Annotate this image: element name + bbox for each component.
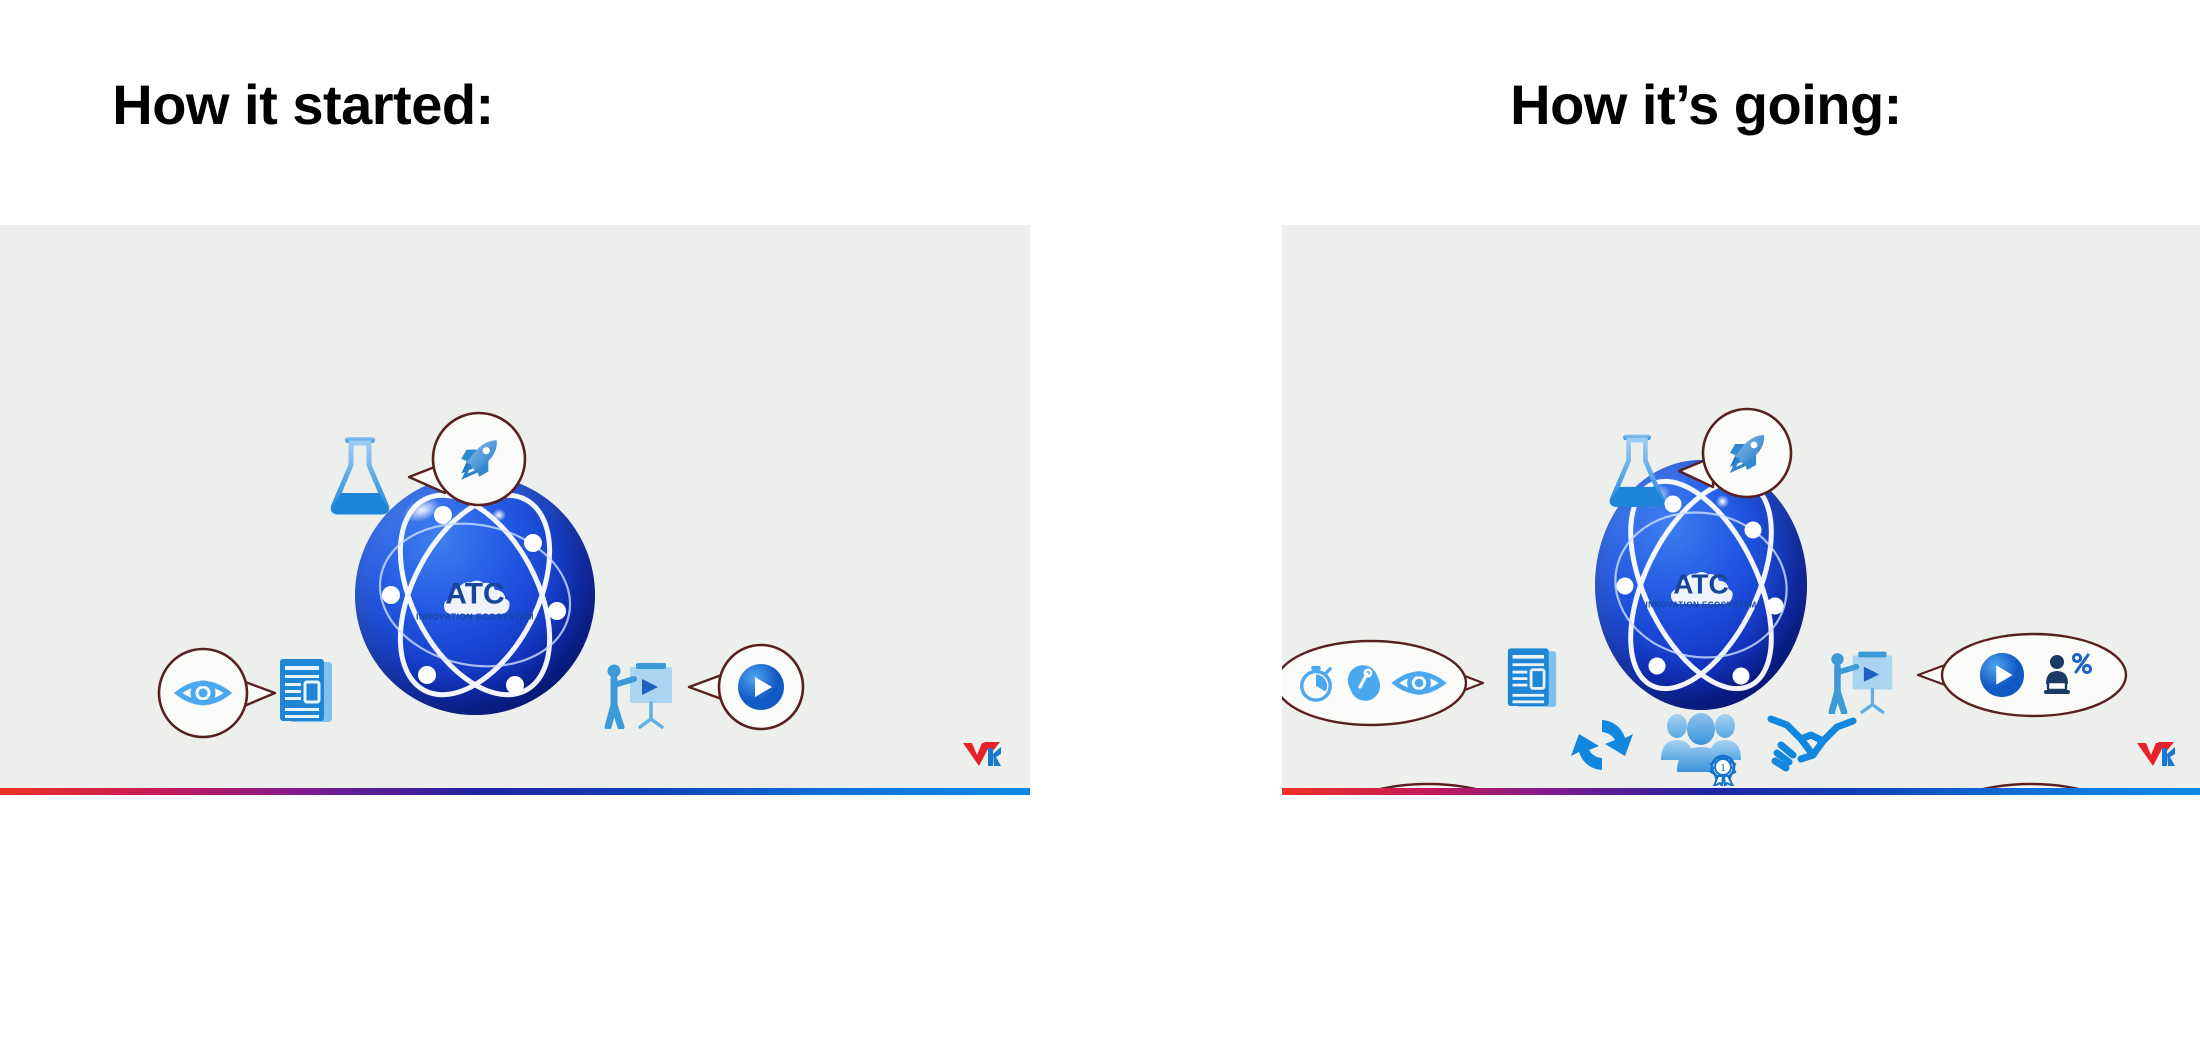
document-article-icon: [278, 658, 334, 728]
bottom-icon-sync: [1565, 708, 1639, 782]
atc-cloud-logo-started: ATC INNOVATION ECOSYSTEM: [405, 579, 544, 621]
vk-logo-icon: [962, 738, 1002, 768]
corner-logo-going: [2136, 738, 2176, 773]
panel-how-its-going: How it’s going:: [1212, 0, 2200, 1050]
corner-logo-started: [962, 738, 1002, 773]
presenter-anchor-started: [604, 657, 676, 729]
flask-anchor-going: [1608, 432, 1666, 508]
callout-left-going: [1282, 634, 1491, 732]
people-group-award-icon: 1: [1659, 704, 1745, 786]
diagram-going: ATC INNOVATION ECOSYSTEM: [1282, 225, 2200, 795]
rocket-icon: [454, 434, 504, 484]
vk-logo-icon: [2136, 738, 2176, 768]
diagram-started: ATC INNOVATION ECOSYSTEM: [0, 225, 1030, 795]
atc-subtitle: INNOVATION ECOSYSTEM: [1640, 602, 1763, 610]
slide-bottom-bar-going: [1282, 788, 2200, 795]
meme-root: How it started:: [0, 0, 2200, 1050]
slide-going: ATC INNOVATION ECOSYSTEM: [1282, 225, 2200, 795]
atc-name: ATC: [405, 579, 544, 609]
person-laptop-percent-icon: [2040, 651, 2090, 699]
flask-icon: [1608, 432, 1666, 508]
panel-title-started: How it started:: [0, 72, 818, 137]
bottom-icon-handshake: [1767, 709, 1857, 777]
flask-icon: [329, 435, 391, 515]
play-button-icon: [1978, 651, 2026, 699]
handshake-icon: [1767, 709, 1857, 777]
presenter-whiteboard-icon: [1828, 646, 1896, 714]
document-anchor-started: [278, 658, 334, 728]
panel-how-it-started: How it started:: [0, 0, 1030, 1050]
presenter-anchor-going: [1828, 646, 1896, 714]
callout-right-going: [1914, 626, 2130, 724]
callout-top-started: [401, 405, 531, 513]
presenter-whiteboard-icon: [604, 657, 676, 729]
stopwatch-icon: [1297, 664, 1335, 702]
flask-anchor-started: [329, 435, 391, 515]
callout-top-going: [1671, 401, 1797, 505]
svg-text:1: 1: [1721, 763, 1726, 774]
document-anchor-going: [1506, 647, 1558, 713]
slide-bottom-bar-started: [0, 788, 1030, 795]
eye-icon: [176, 673, 230, 713]
callout-right-started: [687, 637, 809, 737]
atc-name: ATC: [1640, 571, 1763, 599]
document-article-icon: [1506, 647, 1558, 713]
mouse-icon: [1347, 663, 1381, 703]
play-button-icon: [736, 662, 786, 712]
sync-arrows-icon: [1565, 708, 1639, 782]
slide-started: ATC INNOVATION ECOSYSTEM: [0, 225, 1030, 795]
bottom-icon-people-award: 1: [1659, 704, 1745, 786]
eye-icon: [1393, 664, 1445, 702]
atc-subtitle: INNOVATION ECOSYSTEM: [405, 612, 544, 621]
atc-cloud-logo-going: ATC INNOVATION ECOSYSTEM: [1640, 571, 1763, 610]
panel-title-going: How it’s going:: [1212, 72, 2200, 137]
rocket-icon: [1723, 429, 1771, 477]
callout-left-started: [153, 641, 283, 745]
